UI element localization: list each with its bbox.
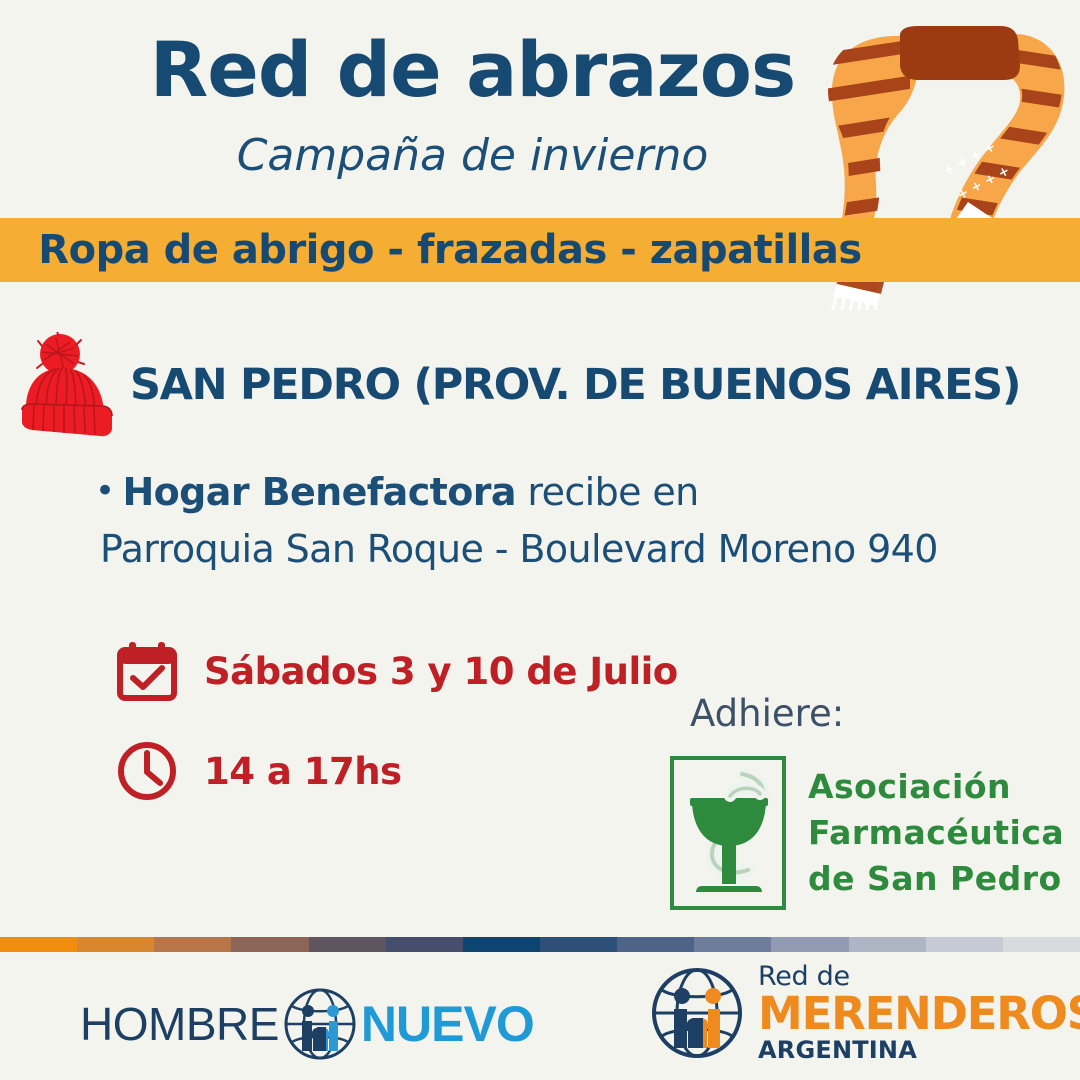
poster-subtitle: Campaña de invierno [0,134,945,178]
color-strip-segment-3 [154,937,231,952]
schedule-time-label: 14 a 17hs [204,750,402,793]
address-line: Parroquia San Roque - Boulevard Moreno 9… [100,524,938,574]
logo-hombre-nuevo: HOMBRE NUEVO [80,985,534,1063]
color-strip-segment-7 [463,937,540,952]
color-strip-segment-1 [0,937,77,952]
schedule-row-time: 14 a 17hs [116,740,402,802]
color-strip-segment-11 [771,937,848,952]
svg-text:+ + + +: + + + + [955,163,1013,203]
schedule-row-date: Sábados 3 y 10 de Julio [116,640,678,702]
red-beanie-icon [12,332,132,442]
color-strip-segment-10 [694,937,771,952]
globe-people-icon [648,964,746,1062]
red-merenderos-line-2: MERENDEROS [758,991,1080,1037]
sponsor-label: Adhiere: [690,692,844,735]
sponsor-logo: Asociación Farmacéutica de San Pedro [668,752,1064,914]
poster-canvas: + + + + + + + + [0,0,1080,1080]
color-strip-segment-6 [386,937,463,952]
recipient-line: •Hogar Benefactora recibe en [95,466,699,517]
sponsor-name-line-1: Asociación [808,764,1064,810]
color-strip-segment-8 [540,937,617,952]
sponsor-name-line-3: de San Pedro [808,856,1064,902]
band-text: Ropa de abrigo - frazadas - zapatillas [0,226,900,274]
color-strip-segment-4 [231,937,308,952]
globe-people-icon [281,985,359,1063]
logo-red-merenderos: Red de MERENDEROS ARGENTINA [648,962,1080,1064]
recipient-name: Hogar Benefactora [122,470,515,514]
svg-text:+ + + +: + + + + [941,139,999,179]
bowl-of-hygieia-icon [668,752,790,914]
bullet-marker: • [95,471,114,511]
sponsor-name: Asociación Farmacéutica de San Pedro [808,764,1064,902]
color-strip-segment-12 [849,937,926,952]
color-strip-segment-2 [77,937,154,952]
color-strip-segment-5 [309,937,386,952]
clock-icon [116,740,178,802]
city-heading: SAN PEDRO (PROV. DE BUENOS AIRES) [130,360,1020,410]
color-strip-segment-9 [617,937,694,952]
poster-title: Red de abrazos [0,32,945,108]
red-merenderos-line-3: ARGENTINA [758,1037,1080,1064]
recipient-verb: recibe en [516,470,699,514]
color-strip-segment-14 [1003,937,1080,952]
hombre-nuevo-word-left: HOMBRE [80,1001,279,1047]
red-merenderos-wordmark: Red de MERENDEROS ARGENTINA [758,962,1080,1064]
calendar-check-icon [116,640,178,702]
hombre-nuevo-word-right: NUEVO [361,999,534,1049]
sponsor-name-line-2: Farmacéutica [808,810,1064,856]
color-strip [0,937,1080,952]
schedule-date-label: Sábados 3 y 10 de Julio [204,650,678,693]
color-strip-segment-13 [926,937,1003,952]
